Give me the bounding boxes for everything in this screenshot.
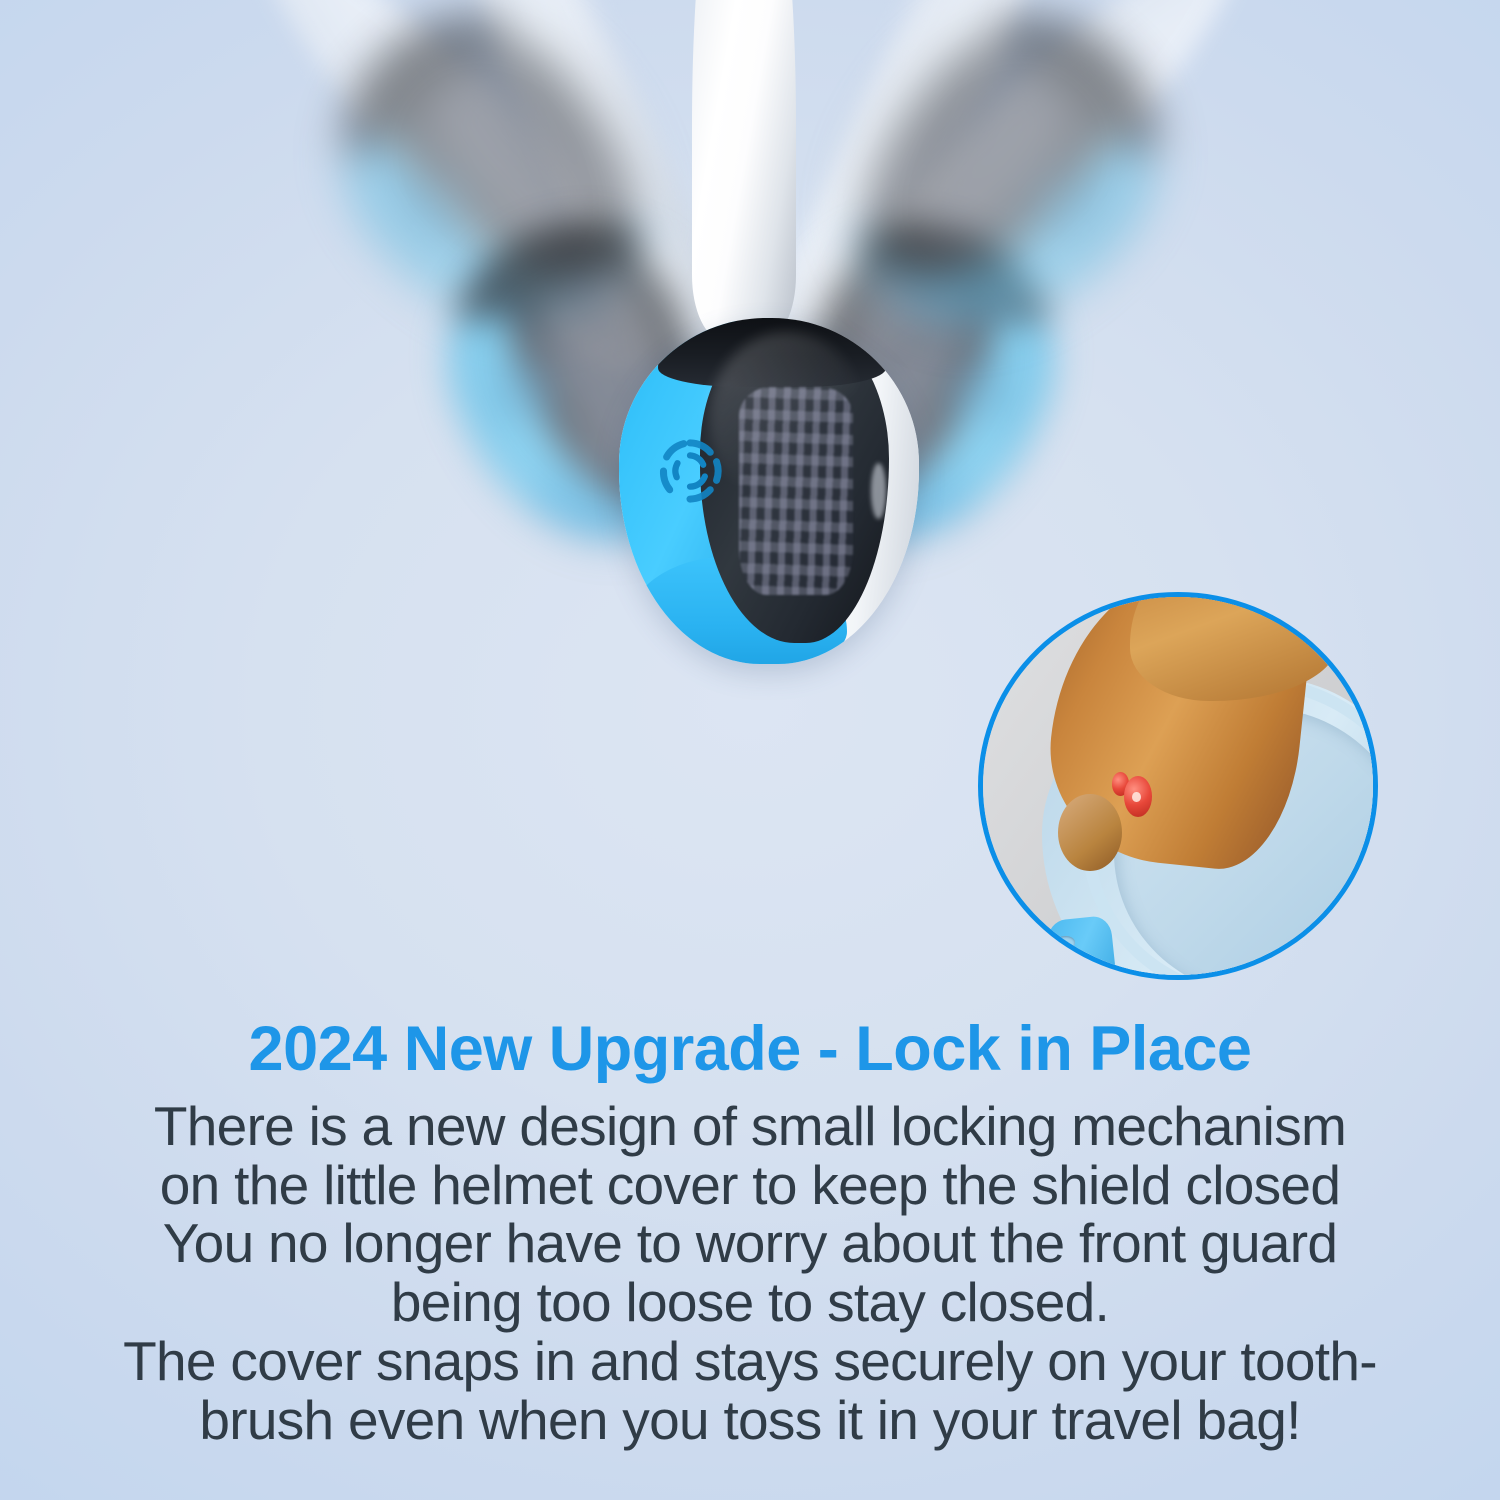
locking-arm-tip-3d — [1058, 794, 1122, 872]
marketing-copy-block: 2024 New Upgrade - Lock in Place There i… — [0, 1000, 1500, 1450]
vent-icon — [651, 429, 729, 513]
body-line: There is a new design of small locking m… — [52, 1097, 1448, 1156]
body-paragraph: There is a new design of small locking m… — [0, 1089, 1500, 1450]
cover-foot-hole-3d — [1056, 936, 1074, 949]
body-line: on the little helmet cover to keep the s… — [52, 1156, 1448, 1215]
locking-mechanism-closeup-inset — [978, 592, 1378, 980]
cover-foot-3d — [1046, 915, 1118, 980]
body-line: The cover snaps in and stays securely on… — [52, 1332, 1448, 1391]
lock-nub-highlight — [1132, 792, 1140, 802]
body-line: brush even when you toss it in your trav… — [52, 1391, 1448, 1450]
body-line: being too loose to stay closed. — [52, 1273, 1448, 1332]
page-title: 2024 New Upgrade - Lock in Place — [0, 1000, 1500, 1089]
body-line: You no longer have to worry about the fr… — [52, 1214, 1448, 1273]
toothbrush-neck — [692, 0, 796, 340]
toothbrush-head-cover — [619, 318, 919, 664]
product-feature-image: 2024 New Upgrade - Lock in Place There i… — [0, 0, 1500, 1500]
